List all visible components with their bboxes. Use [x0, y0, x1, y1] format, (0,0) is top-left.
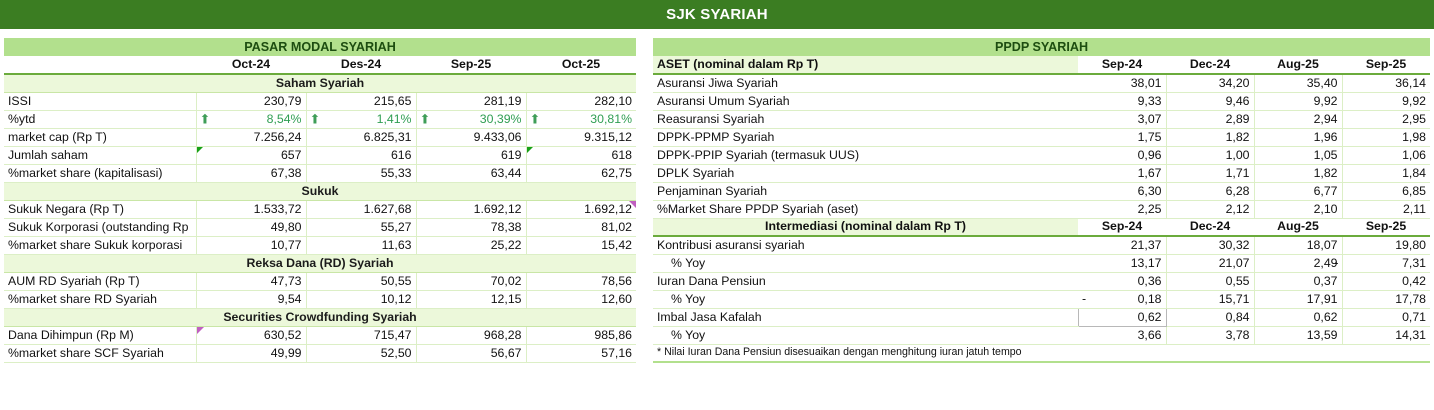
right-cell-0-6-2: 6,77	[1254, 182, 1342, 200]
left-row-label-0-2: market cap (Rp T)	[4, 128, 196, 146]
right-period-header-1-0: Sep-24	[1078, 218, 1166, 236]
right-cell-1-0-0: 21,37	[1078, 236, 1166, 254]
right-row-label-0-6: Penjaminan Syariah	[653, 182, 1078, 200]
table-row: % Yoy3,663,7813,5914,31	[653, 326, 1430, 344]
right-cell-0-0-2: 35,40	[1254, 74, 1342, 92]
right-cell-1-5-1: 3,78	[1166, 326, 1254, 344]
left-cell-1-2-2: 25,22	[416, 236, 526, 254]
right-cell-1-1-1: 21,07	[1166, 254, 1254, 272]
right-cell-1-4-1: 0,84	[1166, 308, 1254, 326]
right-cell-1-2-2: 0,37	[1254, 272, 1342, 290]
right-period-header-0-2: Aug-25	[1254, 56, 1342, 74]
right-cell-0-7-1: 2,12	[1166, 200, 1254, 218]
right-block-header-label-0: ASET (nominal dalam Rp T)	[653, 56, 1078, 74]
right-row-label-0-0: Asuransi Jiwa Syariah	[653, 74, 1078, 92]
left-cell-1-1-3: 81,02	[526, 218, 636, 236]
left-cell-0-3-0: 657	[196, 146, 306, 164]
right-cell-0-5-0: 1,67	[1078, 164, 1166, 182]
right-period-header-0-3: Sep-25	[1342, 56, 1430, 74]
left-cell-0-2-1: 6.825,31	[306, 128, 416, 146]
left-cell-1-2-1: 11,63	[306, 236, 416, 254]
left-cell-3-1-2: 56,67	[416, 344, 526, 362]
right-period-header-1-3: Sep-25	[1342, 218, 1430, 236]
left-cell-0-1-3: ⬆30,81%	[526, 110, 636, 128]
right-cell-0-0-0: 38,01	[1078, 74, 1166, 92]
left-cell-1-1-1: 55,27	[306, 218, 416, 236]
left-period-header-0: Oct-24	[196, 56, 306, 74]
left-cell-2-1-2: 12,15	[416, 290, 526, 308]
left-cell-2-1-1: 10,12	[306, 290, 416, 308]
right-block-header-row: Intermediasi (nominal dalam Rp T)Sep-24D…	[653, 218, 1430, 236]
left-cell-1-2-3: 15,42	[526, 236, 636, 254]
left-cell-0-2-3: 9.315,12	[526, 128, 636, 146]
right-cell-0-0-3: 36,14	[1342, 74, 1430, 92]
right-row-label-1-4: Imbal Jasa Kafalah	[653, 308, 1078, 326]
left-cell-2-0-2: 70,02	[416, 272, 526, 290]
right-cell-1-3-1: 15,71	[1166, 290, 1254, 308]
left-group-title-0: Saham Syariah	[4, 74, 636, 92]
left-cell-1-0-2: 1.692,12	[416, 200, 526, 218]
right-row-label-0-7: %Market Share PPDP Syariah (aset)	[653, 200, 1078, 218]
right-cell-0-2-2: 2,94	[1254, 110, 1342, 128]
left-row-label-3-1: %market share SCF Syariah	[4, 344, 196, 362]
dashboard-root: SJK SYARIAH PASAR MODAL SYARIAHOct-24Des…	[0, 0, 1434, 410]
page-title: SJK SYARIAH	[666, 6, 768, 23]
right-cell-0-5-1: 1,71	[1166, 164, 1254, 182]
negative-sign: -	[1082, 292, 1086, 307]
table-row: DPPK-PPMP Syariah1,751,821,961,98	[653, 128, 1430, 146]
left-cell-2-1-0: 9,54	[196, 290, 306, 308]
table-row: Sukuk Negara (Rp T)1.533,721.627,681.692…	[4, 200, 636, 218]
right-period-header-0-0: Sep-24	[1078, 56, 1166, 74]
left-cell-3-1-3: 57,16	[526, 344, 636, 362]
table-row: % Yoy13,1721,072,49-7,31	[653, 254, 1430, 272]
table-row: %ytd⬆8,54%⬆1,41%⬆30,39%⬆30,81%	[4, 110, 636, 128]
right-row-label-0-1: Asuransi Umum Syariah	[653, 92, 1078, 110]
left-row-label-header	[4, 56, 196, 74]
left-period-header-2: Sep-25	[416, 56, 526, 74]
comment-marker-purple-icon	[197, 327, 204, 334]
left-cell-0-3-3: 618	[526, 146, 636, 164]
right-row-label-1-2: Iuran Dana Pensiun	[653, 272, 1078, 290]
right-row-label-1-1: % Yoy	[653, 254, 1078, 272]
right-cell-1-0-2: 18,07	[1254, 236, 1342, 254]
table-row: %market share Sukuk korporasi10,7711,632…	[4, 236, 636, 254]
left-row-label-0-4: %market share (kapitalisasi)	[4, 164, 196, 182]
right-cell-0-3-1: 1,82	[1166, 128, 1254, 146]
right-section-title: PPDP SYARIAH	[653, 38, 1430, 56]
ppdp-syariah-table: PPDP SYARIAHASET (nominal dalam Rp T)Sep…	[653, 38, 1430, 363]
right-cell-0-6-3: 6,85	[1342, 182, 1430, 200]
left-section-title-row: PASAR MODAL SYARIAH	[4, 38, 636, 56]
right-cell-1-3-3: 17,78	[1342, 290, 1430, 308]
table-row: Sukuk Korporasi (outstanding Rp49,8055,2…	[4, 218, 636, 236]
left-group-title-1: Sukuk	[4, 182, 636, 200]
page-banner: SJK SYARIAH	[0, 0, 1434, 29]
pasar-modal-syariah-panel: PASAR MODAL SYARIAHOct-24Des-24Sep-25Oct…	[4, 38, 636, 363]
right-cell-0-7-3: 2,11	[1342, 200, 1430, 218]
right-row-label-0-2: Reasuransi Syariah	[653, 110, 1078, 128]
right-cell-0-3-0: 1,75	[1078, 128, 1166, 146]
left-cell-0-3-1: 616	[306, 146, 416, 164]
left-cell-3-0-2: 968,28	[416, 326, 526, 344]
left-cell-2-0-1: 50,55	[306, 272, 416, 290]
right-cell-1-2-1: 0,55	[1166, 272, 1254, 290]
right-block-header-row: ASET (nominal dalam Rp T)Sep-24Dec-24Aug…	[653, 56, 1430, 74]
table-row: Asuransi Jiwa Syariah38,0134,2035,4036,1…	[653, 74, 1430, 92]
table-row: market cap (Rp T)7.256,246.825,319.433,0…	[4, 128, 636, 146]
left-cell-3-0-0: 630,52	[196, 326, 306, 344]
table-row: %market share SCF Syariah49,9952,5056,67…	[4, 344, 636, 362]
left-cell-3-1-0: 49,99	[196, 344, 306, 362]
right-footnote-row: * Nilai Iuran Dana Pensiun disesuaikan d…	[653, 344, 1430, 362]
right-cell-1-2-0: 0,36	[1078, 272, 1166, 290]
left-cell-2-1-3: 12,60	[526, 290, 636, 308]
left-period-header-3: Oct-25	[526, 56, 636, 74]
left-group-title-row: Saham Syariah	[4, 74, 636, 92]
right-period-header-0-1: Dec-24	[1166, 56, 1254, 74]
right-cell-0-3-2: 1,96	[1254, 128, 1342, 146]
right-row-label-0-5: DPLK Syariah	[653, 164, 1078, 182]
table-row: Imbal Jasa Kafalah0,620,840,620,71	[653, 308, 1430, 326]
left-cell-1-2-0: 10,77	[196, 236, 306, 254]
table-row: Reasuransi Syariah3,072,892,942,95	[653, 110, 1430, 128]
left-row-label-0-0: ISSI	[4, 92, 196, 110]
table-row: DPLK Syariah1,671,711,821,84	[653, 164, 1430, 182]
right-period-header-1-2: Aug-25	[1254, 218, 1342, 236]
right-footnote: * Nilai Iuran Dana Pensiun disesuaikan d…	[653, 344, 1430, 362]
right-cell-1-4-3: 0,71	[1342, 308, 1430, 326]
left-period-header-row: Oct-24Des-24Sep-25Oct-25	[4, 56, 636, 74]
left-cell-1-0-3: 1.692,12	[526, 200, 636, 218]
left-group-title-row: Securities Crowdfunding Syariah	[4, 308, 636, 326]
comment-marker-green-icon	[197, 147, 203, 153]
left-cell-0-1-1: ⬆1,41%	[306, 110, 416, 128]
up-arrow-icon: ⬆	[200, 113, 211, 126]
left-cell-3-0-1: 715,47	[306, 326, 416, 344]
right-cell-1-5-3: 14,31	[1342, 326, 1430, 344]
right-section-title-row: PPDP SYARIAH	[653, 38, 1430, 56]
left-cell-0-3-2: 619	[416, 146, 526, 164]
left-cell-0-1-2: ⬆30,39%	[416, 110, 526, 128]
left-cell-0-0-2: 281,19	[416, 92, 526, 110]
right-cell-1-5-0: 3,66	[1078, 326, 1166, 344]
left-group-title-2: Reksa Dana (RD) Syariah	[4, 254, 636, 272]
right-cell-0-4-1: 1,00	[1166, 146, 1254, 164]
right-period-header-1-1: Dec-24	[1166, 218, 1254, 236]
table-row: %market share (kapitalisasi)67,3855,3363…	[4, 164, 636, 182]
left-cell-0-4-0: 67,38	[196, 164, 306, 182]
right-cell-1-5-2: 13,59	[1254, 326, 1342, 344]
right-cell-0-1-1: 9,46	[1166, 92, 1254, 110]
left-cell-0-1-0: ⬆8,54%	[196, 110, 306, 128]
right-cell-0-4-0: 0,96	[1078, 146, 1166, 164]
left-group-title-3: Securities Crowdfunding Syariah	[4, 308, 636, 326]
right-cell-0-1-0: 9,33	[1078, 92, 1166, 110]
right-cell-0-3-3: 1,98	[1342, 128, 1430, 146]
left-cell-0-2-0: 7.256,24	[196, 128, 306, 146]
table-row: Dana Dihimpun (Rp M)630,52715,47968,2898…	[4, 326, 636, 344]
right-cell-0-1-2: 9,92	[1254, 92, 1342, 110]
up-arrow-icon: ⬆	[310, 113, 321, 126]
right-cell-0-4-3: 1,06	[1342, 146, 1430, 164]
left-cell-1-0-1: 1.627,68	[306, 200, 416, 218]
table-row: %market share RD Syariah9,5410,1212,1512…	[4, 290, 636, 308]
left-cell-1-0-0: 1.533,72	[196, 200, 306, 218]
right-cell-0-5-3: 1,84	[1342, 164, 1430, 182]
left-group-title-row: Sukuk	[4, 182, 636, 200]
table-row: ISSI230,79215,65281,19282,10	[4, 92, 636, 110]
right-cell-1-3-0: 0,18-	[1078, 290, 1166, 308]
right-cell-1-0-1: 30,32	[1166, 236, 1254, 254]
right-cell-0-7-0: 2,25	[1078, 200, 1166, 218]
left-section-title: PASAR MODAL SYARIAH	[4, 38, 636, 56]
left-cell-2-0-3: 78,56	[526, 272, 636, 290]
table-row: Jumlah saham657616619618	[4, 146, 636, 164]
right-row-label-0-3: DPPK-PPMP Syariah	[653, 128, 1078, 146]
right-cell-0-6-0: 6,30	[1078, 182, 1166, 200]
right-cell-0-2-3: 2,95	[1342, 110, 1430, 128]
right-cell-0-2-1: 2,89	[1166, 110, 1254, 128]
table-row: Iuran Dana Pensiun0,360,550,370,42	[653, 272, 1430, 290]
right-cell-0-4-2: 1,05	[1254, 146, 1342, 164]
right-cell-1-0-3: 19,80	[1342, 236, 1430, 254]
negative-sign: -	[1334, 256, 1338, 271]
table-row: DPPK-PPIP Syariah (termasuk UUS)0,961,00…	[653, 146, 1430, 164]
left-cell-0-0-3: 282,10	[526, 92, 636, 110]
ppdp-syariah-panel: PPDP SYARIAHASET (nominal dalam Rp T)Sep…	[653, 38, 1430, 363]
left-period-header-1: Des-24	[306, 56, 416, 74]
left-cell-0-0-1: 215,65	[306, 92, 416, 110]
right-cell-1-4-2: 0,62	[1254, 308, 1342, 326]
up-arrow-icon: ⬆	[530, 113, 541, 126]
up-arrow-icon: ⬆	[420, 113, 431, 126]
left-cell-3-1-1: 52,50	[306, 344, 416, 362]
right-cell-0-7-2: 2,10	[1254, 200, 1342, 218]
left-cell-3-0-3: 985,86	[526, 326, 636, 344]
left-row-label-1-0: Sukuk Negara (Rp T)	[4, 200, 196, 218]
comment-marker-purple-icon	[629, 201, 636, 208]
left-row-label-2-0: AUM RD Syariah (Rp T)	[4, 272, 196, 290]
right-cell-0-6-1: 6,28	[1166, 182, 1254, 200]
left-row-label-3-0: Dana Dihimpun (Rp M)	[4, 326, 196, 344]
left-cell-0-4-1: 55,33	[306, 164, 416, 182]
right-row-label-1-0: Kontribusi asuransi syariah	[653, 236, 1078, 254]
right-cell-1-3-2: 17,91	[1254, 290, 1342, 308]
left-cell-0-4-3: 62,75	[526, 164, 636, 182]
right-row-label-1-5: % Yoy	[653, 326, 1078, 344]
table-row: Asuransi Umum Syariah9,339,469,929,92	[653, 92, 1430, 110]
table-row: AUM RD Syariah (Rp T)47,7350,5570,0278,5…	[4, 272, 636, 290]
table-row: Penjaminan Syariah6,306,286,776,85	[653, 182, 1430, 200]
left-cell-0-2-2: 9.433,06	[416, 128, 526, 146]
comment-marker-green-icon	[527, 147, 533, 153]
pasar-modal-syariah-table: PASAR MODAL SYARIAHOct-24Des-24Sep-25Oct…	[4, 38, 636, 363]
right-cell-1-1-0: 13,17	[1078, 254, 1166, 272]
left-row-label-1-2: %market share Sukuk korporasi	[4, 236, 196, 254]
left-group-title-row: Reksa Dana (RD) Syariah	[4, 254, 636, 272]
left-cell-0-4-2: 63,44	[416, 164, 526, 182]
right-cell-1-1-2: 2,49-	[1254, 254, 1342, 272]
right-row-label-0-4: DPPK-PPIP Syariah (termasuk UUS)	[653, 146, 1078, 164]
left-cell-1-1-2: 78,38	[416, 218, 526, 236]
right-cell-1-1-3: 7,31	[1342, 254, 1430, 272]
right-block-header-label-1: Intermediasi (nominal dalam Rp T)	[653, 218, 1078, 236]
right-cell-1-2-3: 0,42	[1342, 272, 1430, 290]
right-cell-1-4-0: 0,62	[1078, 308, 1166, 326]
left-row-label-0-3: Jumlah saham	[4, 146, 196, 164]
right-cell-0-2-0: 3,07	[1078, 110, 1166, 128]
left-row-label-0-1: %ytd	[4, 110, 196, 128]
left-cell-1-1-0: 49,80	[196, 218, 306, 236]
table-row: Kontribusi asuransi syariah21,3730,3218,…	[653, 236, 1430, 254]
right-row-label-1-3: % Yoy	[653, 290, 1078, 308]
left-cell-2-0-0: 47,73	[196, 272, 306, 290]
right-cell-0-1-3: 9,92	[1342, 92, 1430, 110]
right-cell-0-0-1: 34,20	[1166, 74, 1254, 92]
table-row: % Yoy0,18-15,7117,9117,78	[653, 290, 1430, 308]
left-row-label-2-1: %market share RD Syariah	[4, 290, 196, 308]
left-cell-0-0-0: 230,79	[196, 92, 306, 110]
table-row: %Market Share PPDP Syariah (aset)2,252,1…	[653, 200, 1430, 218]
right-cell-0-5-2: 1,82	[1254, 164, 1342, 182]
left-row-label-1-1: Sukuk Korporasi (outstanding Rp	[4, 218, 196, 236]
